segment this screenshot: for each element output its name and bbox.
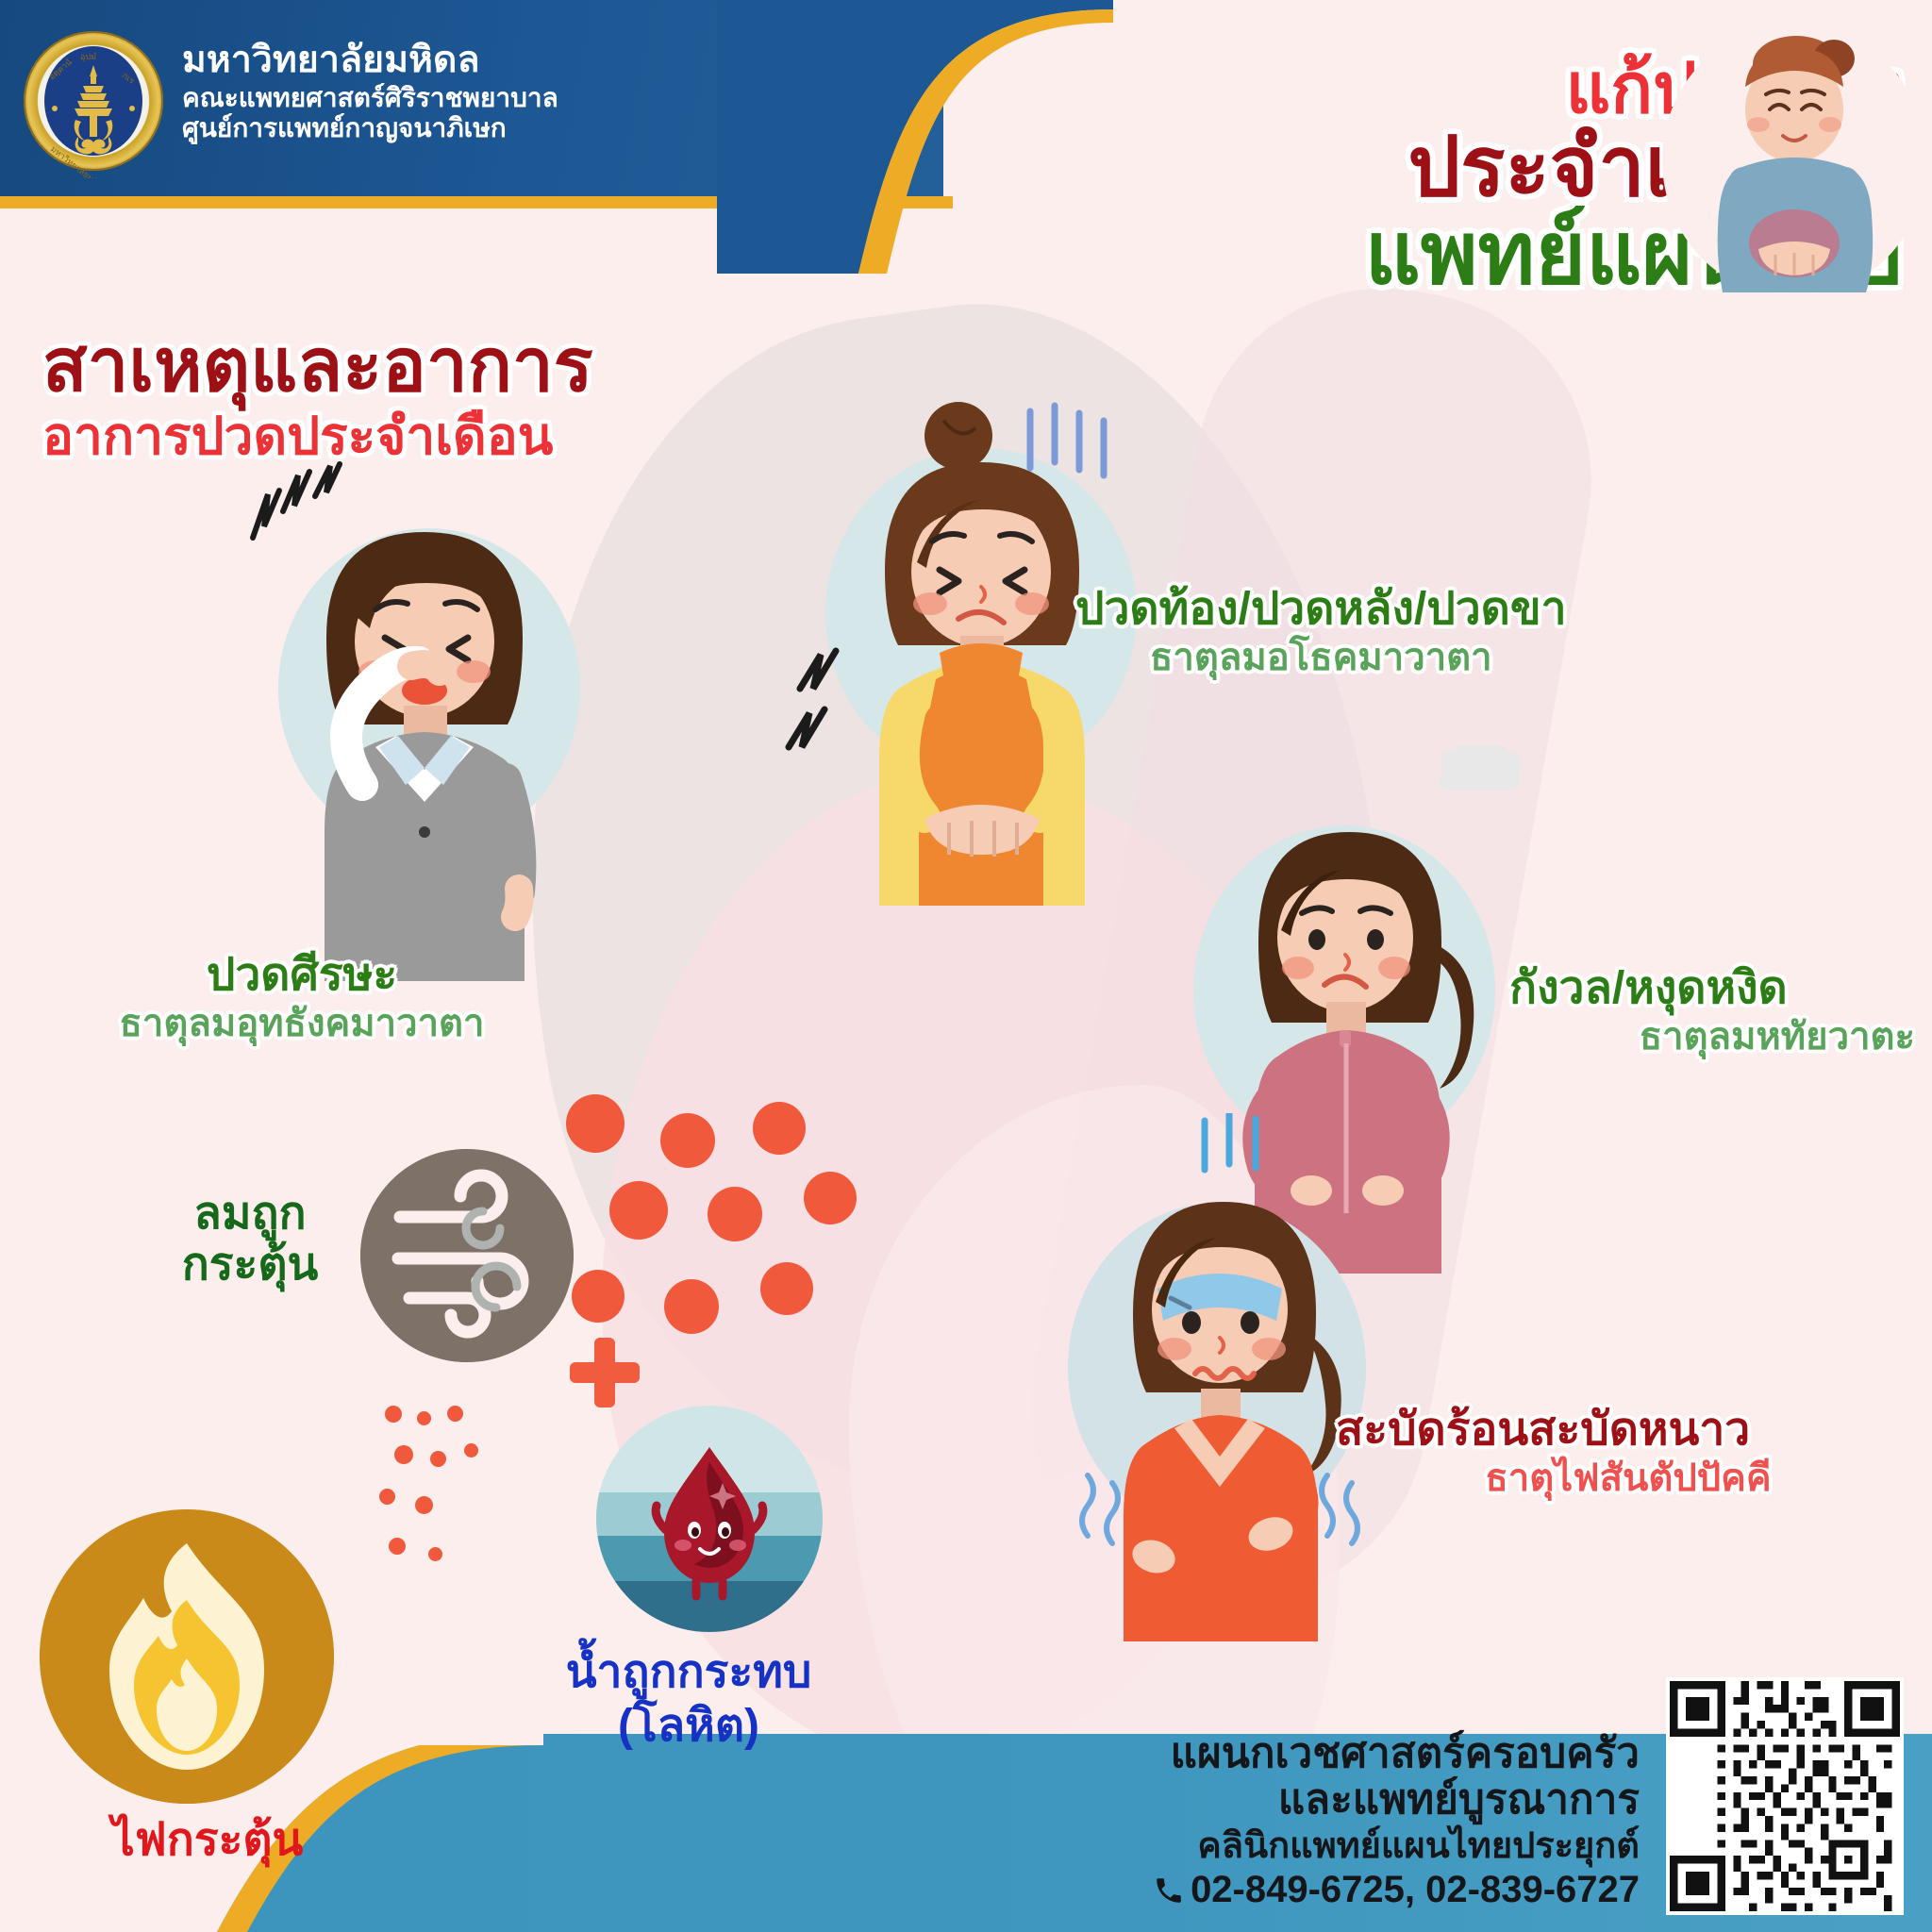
symptom-label-hot-cold: สะบัดร้อนสะบัดหนาว ธาตุไฟสันตัปปัคคี	[1336, 1406, 1921, 1500]
org-faculty-name: คณะแพทยศาสตร์ศิริราชพยาบาล	[182, 83, 558, 112]
seal-emblem-icon: อตฺตานํ อุปมํ กเร มหาวิทยาลัยมหิดล	[24, 39, 163, 178]
footer-dept-line-1: แผนกเวชศาสตร์ครอบครัว	[1153, 1730, 1640, 1776]
qr-code[interactable]	[1666, 1677, 1904, 1915]
wind-swirl-icon	[360, 1149, 574, 1362]
svg-text:อุปมํ: อุปมํ	[80, 52, 96, 62]
footer-phone-number: 02-849-6725, 02-839-6727	[1191, 1869, 1640, 1910]
element-label-wind-line2: กระตุ้น	[123, 1240, 377, 1291]
left-section-heading: สาเหตุและอาการ อาการปวดประจำเดือน	[42, 328, 891, 463]
element-label-wind: ลมถูก กระตุ้น	[123, 1189, 377, 1291]
flame-icon	[40, 1509, 334, 1804]
symptom-label-hot-cold-title: สะบัดร้อนสะบัดหนาว	[1336, 1406, 1921, 1456]
illustration-woman-hot-cold	[1033, 1113, 1410, 1641]
element-label-fire-line1: ไฟกระตุ้น	[38, 1816, 377, 1866]
infographic-poster: อตฺตานํ อุปมํ กเร มหาวิทยาลัยมหิดล มหาวิ…	[0, 0, 1932, 1932]
svg-text:อตฺตานํ: อตฺตานํ	[47, 58, 74, 82]
svg-text:กเร: กเร	[121, 71, 137, 86]
element-label-wind-line1: ลมถูก	[123, 1189, 377, 1240]
symptom-label-anxiety-title: กังวล/หงุดหงิด	[1509, 964, 1915, 1014]
element-label-water-line1: น้ำถูกกระทบ	[491, 1646, 887, 1700]
footer-clinic-name: คลินิกแพทย์แผนไทยประยุกต์	[1153, 1826, 1640, 1867]
organization-names: มหาวิทยาลัยมหิดล คณะแพทยศาสตร์ศิริราชพยา…	[182, 40, 558, 142]
symptom-label-headache-title: ปวดศีรษะ	[38, 951, 566, 1001]
phone-icon	[1153, 1874, 1185, 1907]
symptom-label-headache: ปวดศีรษะ ธาตุลมอุทธังคมาวาตา	[38, 951, 566, 1045]
symptom-label-headache-sub: ธาตุลมอุทธังคมาวาตา	[38, 1003, 566, 1045]
symptom-label-anxiety: กังวล/หงุดหงิด ธาตุลมหทัยวาตะ	[1509, 964, 1915, 1058]
symptom-label-abdomen: ปวดท้อง/ปวดหลัง/ปวดขา ธาตุลมอโธคมาวาตา	[1075, 585, 1567, 679]
illustration-woman-cramps-header	[1653, 19, 1926, 292]
symptom-label-abdomen-sub: ธาตุลมอโธคมาวาตา	[1075, 637, 1567, 679]
footer-dept-line-2: และแพทย์บูรณาการ	[1153, 1776, 1640, 1823]
plus-sign-icon	[570, 1338, 640, 1407]
element-label-water: น้ำถูกกระทบ (โลหิต)	[491, 1646, 887, 1753]
footer-contact-block: แผนกเวชศาสตร์ครอบครัว และแพทย์บูรณาการ ค…	[1153, 1730, 1640, 1911]
org-center-name: ศูนย์การแพทย์กาญจนาภิเษก	[182, 113, 558, 142]
qr-code-image	[1670, 1681, 1900, 1911]
org-university-name: มหาวิทยาลัยมหิดล	[182, 40, 558, 81]
symptom-label-abdomen-title: ปวดท้อง/ปวดหลัง/ปวดขา	[1075, 585, 1567, 635]
left-heading-line-1: สาเหตุและอาการ	[42, 328, 891, 404]
symptom-label-hot-cold-sub: ธาตุไฟสันตัปปัคคี	[1336, 1457, 1921, 1500]
blood-drop-icon	[596, 1406, 823, 1632]
symptom-label-anxiety-sub: ธาตุลมหทัยวาตะ	[1509, 1016, 1915, 1058]
element-label-fire: ไฟกระตุ้น	[38, 1816, 377, 1866]
mahidol-seal-logo: อตฺตานํ อุปมํ กเร มหาวิทยาลัยมหิดล	[24, 31, 163, 171]
illustration-woman-headache	[236, 453, 613, 981]
footer-phone-row: 02-849-6725, 02-839-6727	[1153, 1869, 1640, 1911]
element-label-water-line2: (โลหิต)	[491, 1700, 887, 1754]
